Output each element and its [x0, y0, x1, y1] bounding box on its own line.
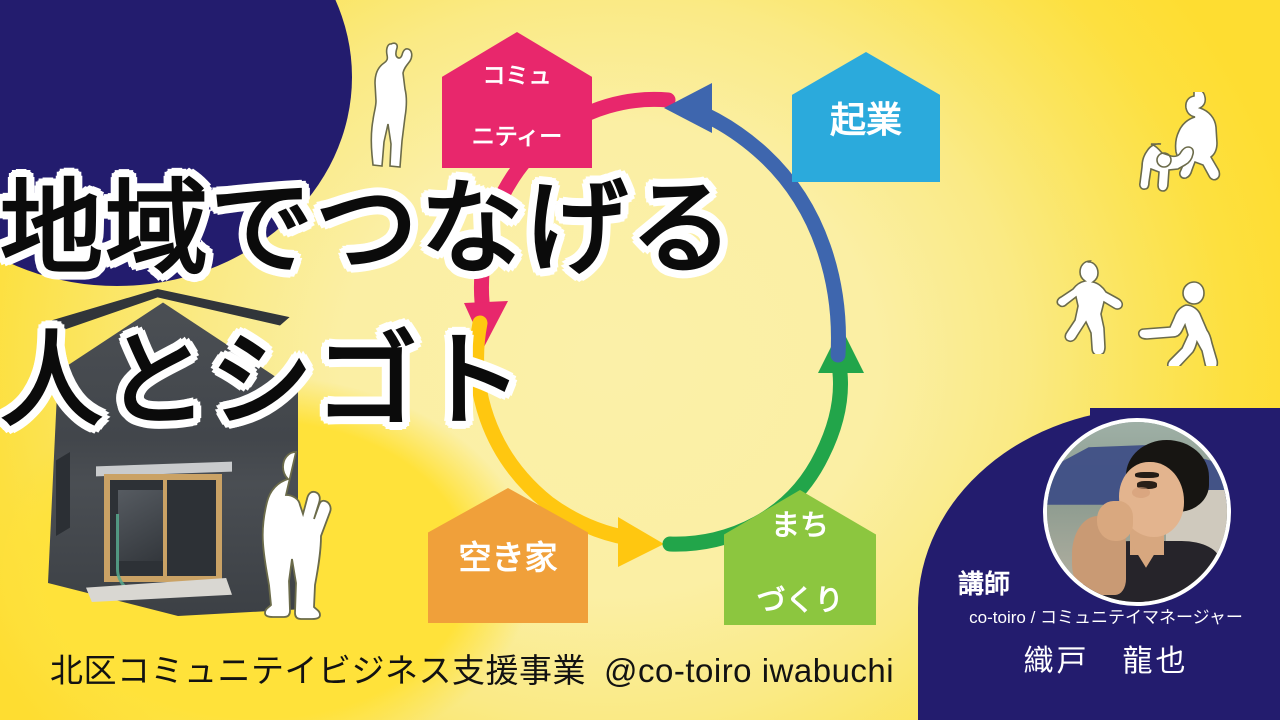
avatar-eyebrow	[1135, 472, 1158, 477]
cycle-node-machizukuri-label: まちづくり	[756, 497, 843, 618]
person-waving-silhouette	[248, 438, 340, 620]
footer-social-handle: @co-toiro iwabuchi	[604, 652, 894, 689]
building-side-window	[56, 452, 70, 536]
date-badge-content: 9/1（土） 10:00~12:00	[0, 0, 196, 58]
cycle-node-community-label: コミュニティー	[472, 50, 563, 149]
avatar-hand	[1097, 501, 1133, 541]
community-label-line1: コミュ	[472, 56, 563, 89]
instructor-organization: co-toiro / コミュニテイマネージャー	[940, 603, 1272, 628]
instructor-name: 織戸 龍也	[940, 636, 1272, 680]
avatar-cheek	[1132, 487, 1150, 498]
cycle-node-startup-label: 起業	[830, 93, 902, 141]
poster-title-line-1: 地域でつなげる	[0, 178, 1280, 281]
cycle-node-akiya-label: 空き家	[459, 533, 558, 578]
footer-program-name: 北区コミュニテイビジネス支援事業	[50, 652, 586, 689]
instructor-info: 講師 co-toiro / コミュニテイマネージャー 織戸 龍也	[940, 570, 1272, 680]
community-label-line2: ニティー	[472, 117, 563, 150]
machi-label-line1: まち	[756, 503, 843, 543]
event-poster: 9/1（土） 10:00~12:00	[0, 0, 1280, 720]
instructor-role-label: 講師	[940, 570, 1272, 599]
footer-bar: 北区コミュニテイビジネス支援事業@co-toiro iwabuchi	[50, 644, 950, 692]
machi-label-line2: づくり	[756, 578, 843, 618]
